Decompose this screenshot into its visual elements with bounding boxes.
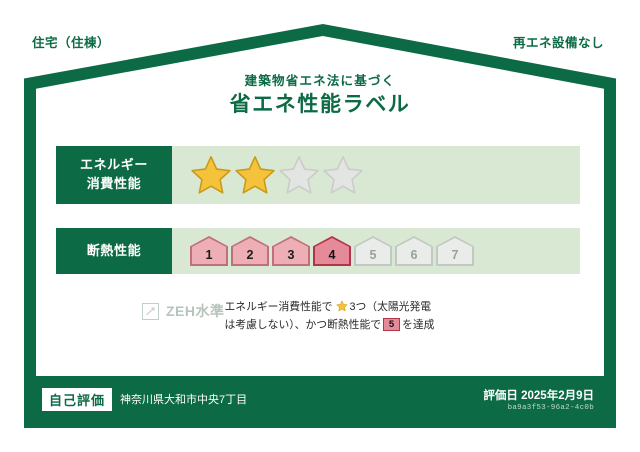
zeh-criteria-note-line1: エネルギー消費性能で 3つ（太陽光発電 xyxy=(225,299,581,317)
insulation-grade-number: 1 xyxy=(206,248,213,262)
title-subtitle: 建築物省エネ法に基づく xyxy=(36,74,604,89)
insulation-grade-number: 3 xyxy=(288,248,295,262)
note-line2-text-b: を達成 xyxy=(402,319,434,331)
row-insulation-value: 1234567 xyxy=(172,228,580,274)
evaluation-date-value: 2025年2月9日 xyxy=(521,390,594,402)
star-empty-icon xyxy=(278,154,320,196)
star-empty-icon xyxy=(322,154,364,196)
zeh-note-section: ZEH水準 エネルギー消費性能で 3つ（太陽光発電 は考慮しない）、かつ断熱性能… xyxy=(56,298,580,335)
self-evaluation-badge: 自己評価 xyxy=(42,388,112,411)
zeh-criteria-note-line2: は考慮しない）、かつ断熱性能で5を達成 xyxy=(225,317,581,335)
insulation-grade-number: 6 xyxy=(411,248,418,262)
evaluation-id: ba9a3f53-96a2-4c0b xyxy=(483,404,594,412)
insulation-grade-4: 4 xyxy=(313,236,351,266)
note-line1-text-a: エネルギー消費性能で xyxy=(225,301,333,313)
energy-performance-label: 住宅（住棟） 再エネ設備なし 建築物省エネ法に基づく 省エネ性能ラベル エネルギ… xyxy=(0,0,640,452)
insulation-grade-2: 2 xyxy=(231,236,269,266)
zeh-criteria-note: エネルギー消費性能で 3つ（太陽光発電 は考慮しない）、かつ断熱性能で5を達成 xyxy=(225,298,581,335)
star-filled-icon xyxy=(190,154,232,196)
row-insulation-label-line1: 断熱性能 xyxy=(87,242,141,261)
row-energy-label-line1: エネルギー xyxy=(80,156,148,175)
insulation-grade-number: 7 xyxy=(452,248,459,262)
tab-renewable-equipment: 再エネ設備なし xyxy=(503,28,614,55)
star-filled-icon xyxy=(234,154,276,196)
note-line2-text-a: は考慮しない）、かつ断熱性能で xyxy=(225,319,382,331)
insulation-grade-7: 7 xyxy=(436,236,474,266)
zeh-standard-label: ZEH水準 xyxy=(166,301,225,321)
row-energy-label: エネルギー 消費性能 xyxy=(56,146,172,204)
star-rating xyxy=(190,154,364,196)
row-energy-performance: エネルギー 消費性能 xyxy=(56,146,580,204)
insulation-grade-1: 1 xyxy=(190,236,228,266)
title-block: 建築物省エネ法に基づく 省エネ性能ラベル xyxy=(36,74,604,119)
insulation-grade-5: 5 xyxy=(354,236,392,266)
star-filled-icon xyxy=(336,300,348,312)
insulation-grade-number: 2 xyxy=(247,248,254,262)
property-address: 神奈川県大和市中央7丁目 xyxy=(120,391,483,407)
insulation-grade-number: 4 xyxy=(329,248,336,262)
insulation-grade-6: 6 xyxy=(395,236,433,266)
zeh-standard-block: ZEH水準 xyxy=(56,298,225,321)
note-line1-text-b: 3つ（太陽光発電 xyxy=(349,301,431,313)
evaluation-meta: 評価日 2025年2月9日 ba9a3f53-96a2-4c0b xyxy=(483,387,598,412)
footer-bar: 自己評価 神奈川県大和市中央7丁目 評価日 2025年2月9日 ba9a3f53… xyxy=(36,382,604,416)
insulation-grade-scale: 1234567 xyxy=(190,236,474,266)
tab-building-type: 住宅（住棟） xyxy=(24,28,120,55)
insulation-grade-3: 3 xyxy=(272,236,310,266)
evaluation-date-label: 評価日 xyxy=(483,390,518,402)
insulation-grade-number: 5 xyxy=(370,248,377,262)
note-inline-grade-badge: 5 xyxy=(383,318,400,331)
row-energy-label-line2: 消費性能 xyxy=(87,175,141,194)
row-insulation-label: 断熱性能 xyxy=(56,228,172,274)
page-title: 省エネ性能ラベル xyxy=(36,91,604,119)
checkbox-unchecked-icon xyxy=(142,303,159,320)
row-insulation-performance: 断熱性能 1234567 xyxy=(56,228,580,274)
evaluation-date: 評価日 2025年2月9日 xyxy=(483,387,594,403)
row-energy-value xyxy=(172,146,580,204)
